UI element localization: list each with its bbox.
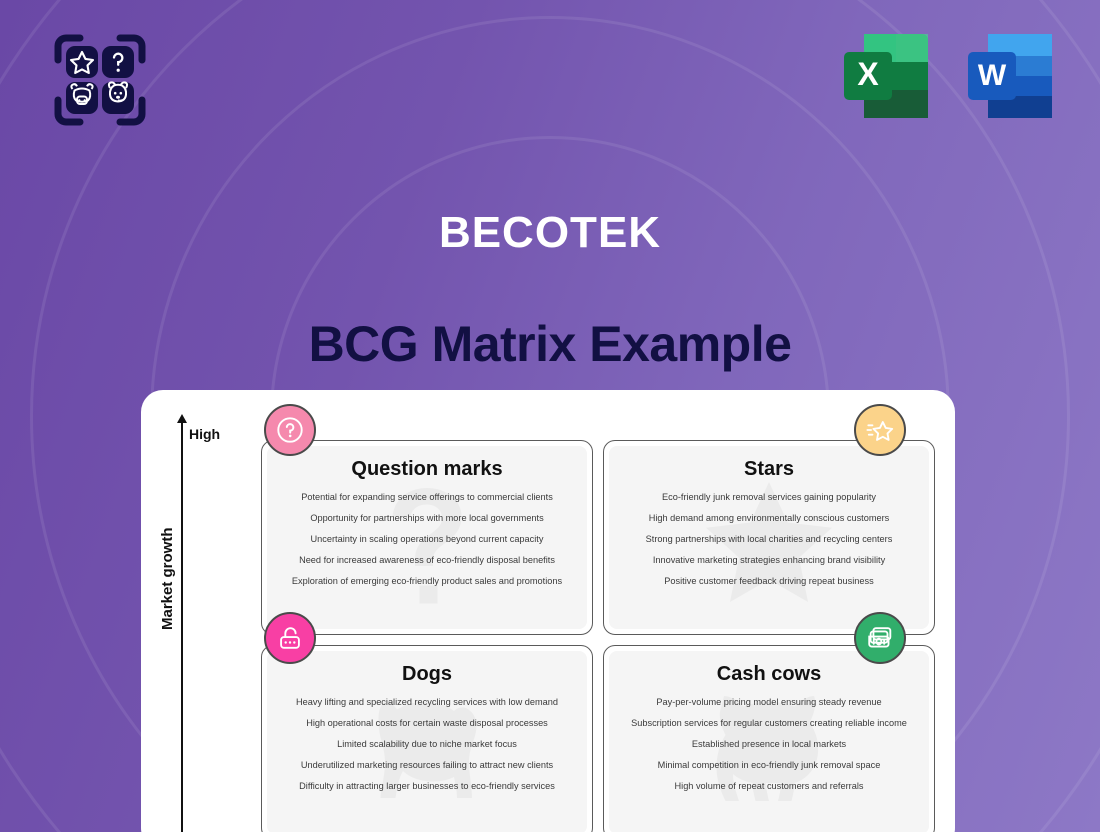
quadrant-items: Pay-per-volume pricing model ensuring st… bbox=[619, 697, 919, 793]
list-item: Eco-friendly junk removal services gaini… bbox=[619, 492, 919, 504]
axis-high-label: High bbox=[189, 426, 220, 442]
list-item: Uncertainty in scaling operations beyond… bbox=[277, 534, 577, 546]
market-growth-axis bbox=[181, 422, 183, 832]
poster-canvas: X W BECOTEK BCG Matrix Example High Mark… bbox=[0, 0, 1100, 832]
list-item: High operational costs for certain waste… bbox=[277, 718, 577, 730]
list-item: Minimal competition in eco-friendly junk… bbox=[619, 760, 919, 772]
quadrant-items: Potential for expanding service offering… bbox=[277, 492, 577, 588]
axis-vertical-label: Market growth bbox=[159, 527, 176, 630]
list-item: Strong partnerships with local charities… bbox=[619, 534, 919, 546]
matrix-grid: Question marks Potential for expanding s… bbox=[261, 440, 935, 832]
quadrant-title: Stars bbox=[619, 458, 919, 481]
svg-text:X: X bbox=[857, 56, 879, 92]
list-item: Established presence in local markets bbox=[619, 739, 919, 751]
list-item: Pay-per-volume pricing model ensuring st… bbox=[619, 697, 919, 709]
list-item: High demand among environmentally consci… bbox=[619, 513, 919, 525]
quadrant-title: Question marks bbox=[277, 458, 577, 481]
list-item: Limited scalability due to niche market … bbox=[277, 739, 577, 751]
svg-text:W: W bbox=[978, 59, 1007, 92]
list-item: Positive customer feedback driving repea… bbox=[619, 576, 919, 588]
list-item: Difficulty in attracting larger business… bbox=[277, 781, 577, 793]
bcg-matrix-logo-icon bbox=[52, 32, 148, 128]
page-title: BCG Matrix Example bbox=[0, 315, 1100, 373]
quadrant-cash-cows[interactable]: Cash cows Pay-per-volume pricing model e… bbox=[603, 645, 935, 832]
list-item: Subscription services for regular custom… bbox=[619, 718, 919, 730]
brand-name: BECOTEK bbox=[0, 208, 1100, 258]
quadrant-items: Heavy lifting and specialized recycling … bbox=[277, 697, 577, 793]
quadrant-stars[interactable]: Stars Eco-friendly junk removal services… bbox=[603, 440, 935, 635]
list-item: Heavy lifting and specialized recycling … bbox=[277, 697, 577, 709]
list-item: Potential for expanding service offering… bbox=[277, 492, 577, 504]
word-icon: W bbox=[962, 28, 1058, 124]
list-item: Underutilized marketing resources failin… bbox=[277, 760, 577, 772]
open-padlock-icon[interactable] bbox=[264, 612, 316, 664]
quadrant-title: Cash cows bbox=[619, 663, 919, 686]
office-app-icons: X W bbox=[838, 28, 1058, 124]
star-icon[interactable] bbox=[854, 404, 906, 456]
list-item: Opportunity for partnerships with more l… bbox=[277, 513, 577, 525]
list-item: Need for increased awareness of eco-frie… bbox=[277, 555, 577, 567]
list-item: Innovative marketing strategies enhancin… bbox=[619, 555, 919, 567]
excel-icon: X bbox=[838, 28, 934, 124]
quadrant-dogs[interactable]: Dogs Heavy lifting and specialized recyc… bbox=[261, 645, 593, 832]
banknotes-icon[interactable] bbox=[854, 612, 906, 664]
list-item: Exploration of emerging eco-friendly pro… bbox=[277, 576, 577, 588]
quadrant-question-marks[interactable]: Question marks Potential for expanding s… bbox=[261, 440, 593, 635]
quadrant-items: Eco-friendly junk removal services gaini… bbox=[619, 492, 919, 588]
question-mark-icon[interactable] bbox=[264, 404, 316, 456]
quadrant-title: Dogs bbox=[277, 663, 577, 686]
list-item: High volume of repeat customers and refe… bbox=[619, 781, 919, 793]
matrix-card: High Market growth Question marks Potent… bbox=[141, 390, 955, 832]
